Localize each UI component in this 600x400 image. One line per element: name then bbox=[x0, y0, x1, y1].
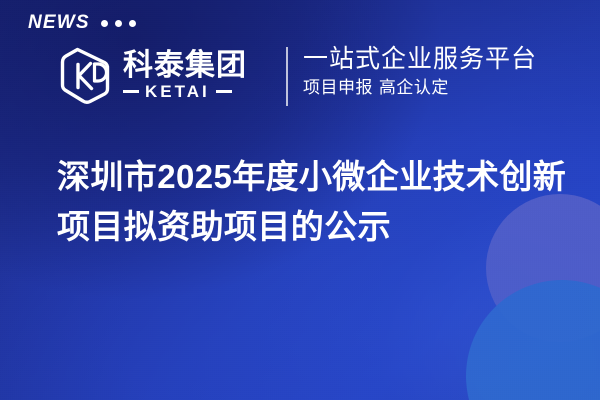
ketai-diamond-monogram-logo-icon bbox=[57, 44, 113, 106]
brand-rule-right bbox=[216, 90, 232, 93]
headline: 深圳市2025年度小微企业技术创新 项目拟资助项目的公示 bbox=[57, 152, 577, 252]
brand-lockup: 科泰集团 KETAI bbox=[57, 44, 247, 106]
brand-name-cn: 科泰集团 bbox=[123, 50, 247, 82]
tagline-main: 一站式企业服务平台 bbox=[303, 44, 537, 74]
kicker-dot-2 bbox=[115, 20, 122, 27]
brand-name-en: KETAI bbox=[145, 83, 210, 100]
banner-content: NEWS 科泰集团 bbox=[0, 0, 600, 400]
news-kicker-label: NEWS bbox=[28, 13, 90, 32]
brand-lockup-row: 科泰集团 KETAI bbox=[57, 44, 247, 106]
brand-wordmark: 科泰集团 KETAI bbox=[123, 50, 247, 100]
brand-tagline-divider bbox=[286, 47, 288, 106]
tagline-sub: 项目申报 高企认定 bbox=[303, 78, 537, 99]
kicker-dots-icon bbox=[101, 18, 136, 27]
kicker-dot-3 bbox=[129, 20, 136, 27]
tagline-block: 一站式企业服务平台 项目申报 高企认定 bbox=[303, 44, 537, 99]
kicker-dot-1 bbox=[101, 20, 108, 27]
brand-name-en-row: KETAI bbox=[123, 83, 247, 100]
news-kicker: NEWS bbox=[28, 13, 136, 32]
brand-rule-left bbox=[123, 90, 139, 93]
news-banner: NEWS 科泰集团 bbox=[0, 0, 600, 400]
headline-line-2: 项目拟资助项目的公示 bbox=[57, 202, 577, 252]
headline-line-1: 深圳市2025年度小微企业技术创新 bbox=[57, 152, 577, 202]
